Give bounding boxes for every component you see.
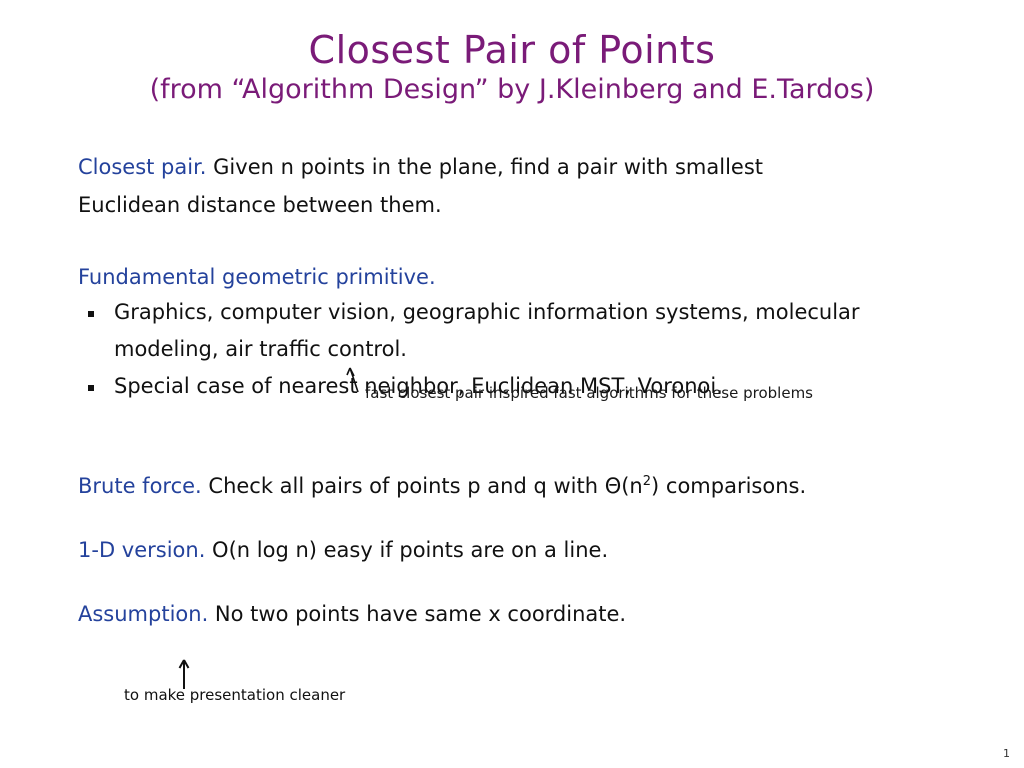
fundamental-heading: Fundamental geometric primitive. — [78, 260, 958, 294]
spacer — [78, 405, 958, 441]
title-block: Closest Pair of Points (from “Algorithm … — [0, 28, 1024, 106]
brute-force-text-before: Check all pairs of points p and q with — [202, 474, 605, 498]
spacer — [78, 224, 958, 260]
section-brute-force: Brute force. Check all pairs of points p… — [78, 467, 958, 505]
annotation-bottom-note: to make presentation cleaner — [124, 686, 345, 704]
brute-force-exponent: 2 — [643, 474, 651, 489]
assumption-arrow-up-icon — [176, 656, 192, 690]
list-item-label: Graphics, computer vision, geographic in… — [114, 300, 860, 361]
section-assumption: Assumption. No two points have same x co… — [78, 595, 958, 633]
spacer — [78, 441, 958, 467]
brute-force-lead: Brute force. — [78, 474, 202, 498]
closest-pair-lead: Closest pair. — [78, 155, 206, 179]
spacer — [78, 505, 958, 531]
annotation-overlap-note: fast closest pair inspired fast algorith… — [365, 384, 813, 402]
closest-pair-line2: Euclidean distance between them. — [78, 193, 442, 217]
section-closest-pair: Closest pair. Given n points in the plan… — [78, 148, 958, 224]
one-d-text: O(n log n) easy if points are on a line. — [205, 538, 608, 562]
page-subtitle: (from “Algorithm Design” by J.Kleinberg … — [0, 74, 1024, 106]
brute-force-theta: Θ(n — [605, 474, 643, 498]
assumption-lead: Assumption. — [78, 602, 208, 626]
square-bullet-icon — [88, 385, 94, 391]
brute-force-text-after: ) comparisons. — [651, 474, 806, 498]
spacer — [78, 569, 958, 595]
annotation-arrow-up-left-icon — [338, 362, 368, 396]
page-number: 1 — [1003, 747, 1010, 760]
page-title: Closest Pair of Points — [0, 28, 1024, 72]
section-one-d-version: 1-D version. O(n log n) easy if points a… — [78, 531, 958, 569]
list-item: Graphics, computer vision, geographic in… — [78, 294, 958, 368]
closest-pair-line1: Given n points in the plane, find a pair… — [206, 155, 763, 179]
one-d-lead: 1-D version. — [78, 538, 205, 562]
square-bullet-icon — [88, 311, 94, 317]
slide-canvas: Closest Pair of Points (from “Algorithm … — [0, 0, 1024, 768]
assumption-text: No two points have same x coordinate. — [208, 602, 626, 626]
